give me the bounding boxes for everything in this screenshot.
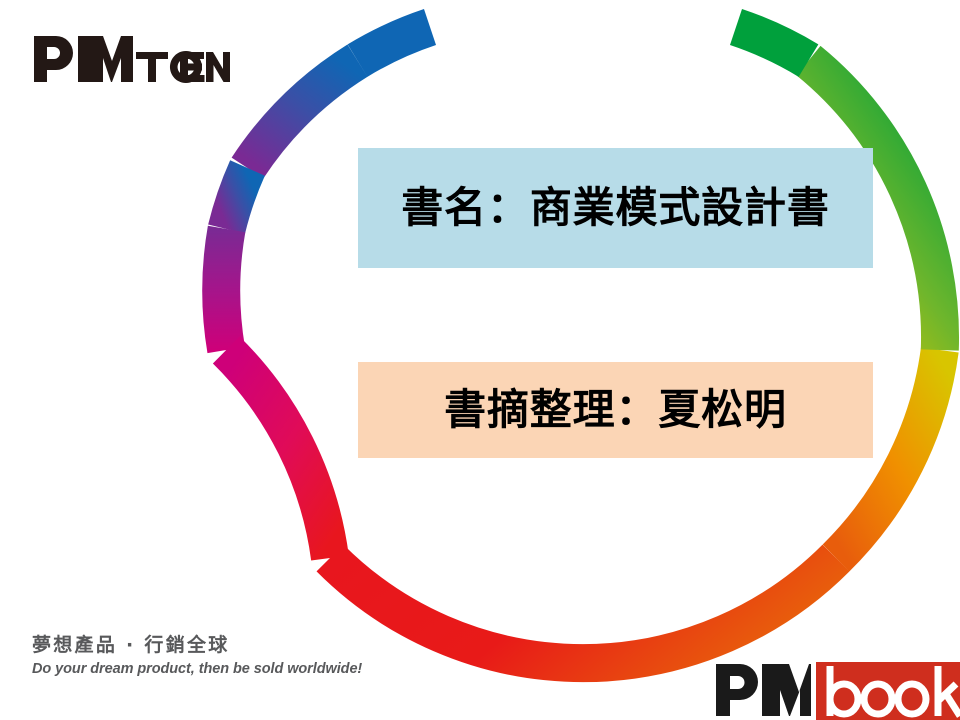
ring-segment-left-upper-a (227, 168, 248, 229)
pmbook-logo (710, 658, 960, 720)
ring-segment-top-right-end (736, 27, 809, 61)
tagline: 夢想產品 · 行銷全球 Do your dream product, then … (32, 634, 372, 677)
rainbow-ring (0, 0, 960, 720)
pmbook-letter-m (762, 664, 811, 716)
pmtone-letter-e (178, 28, 210, 90)
pmtone-letter-m (78, 36, 133, 82)
book-summary-author-box: 書摘整理：夏松明 (358, 362, 873, 458)
ring-segment-left-lower (226, 350, 330, 558)
ring-segment-top-left-end (358, 27, 431, 61)
ring-segment-bottom (330, 558, 836, 663)
ring-segment-left (221, 229, 226, 350)
book-summary-author-text: 書摘整理：夏松明 (444, 389, 787, 431)
book-title-text: 書名：商業模式設計書 (401, 187, 829, 229)
pmbook-letter-p (716, 664, 758, 716)
tagline-chinese: 夢想產品 · 行銷全球 (32, 634, 372, 658)
tagline-english: Do your dream product, then be sold worl… (32, 661, 372, 677)
book-title-box: 書名：商業模式設計書 (358, 148, 873, 268)
slide-canvas: 書名：商業模式設計書 書摘整理：夏松明 夢想產品 · 行銷全球 Do your … (0, 0, 960, 720)
pmtone-letter-p (34, 36, 73, 82)
ring-segment-top-left (248, 61, 358, 168)
